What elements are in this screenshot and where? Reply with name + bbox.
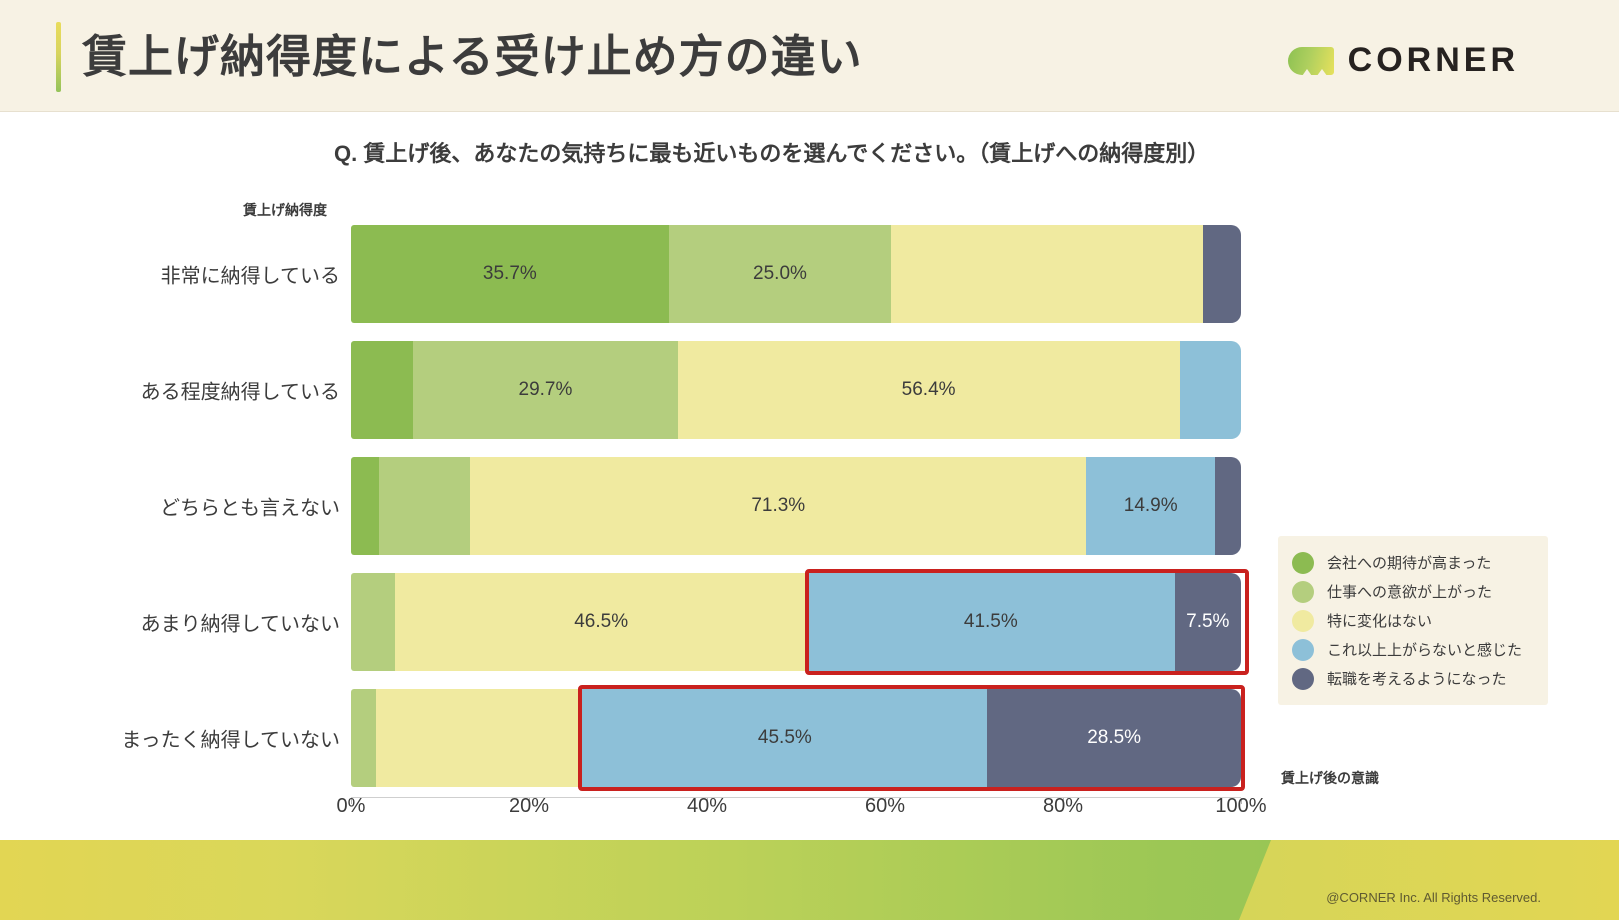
plot-area: 35.7%25.0%29.7%56.4%71.3%14.9%46.5%41.5%…	[351, 225, 1241, 797]
legend-swatch-icon	[1292, 668, 1314, 690]
bar-segment	[1180, 341, 1241, 439]
legend-swatch-icon	[1292, 581, 1314, 603]
legend-swatch-icon	[1292, 552, 1314, 574]
footer-wedge	[1239, 840, 1619, 920]
legend-item[interactable]: 特に変化はない	[1292, 606, 1538, 635]
legend-item[interactable]: これ以上上がらないと感じた	[1292, 635, 1538, 664]
x-axis-tick-label: 60%	[865, 795, 905, 818]
legend-swatch-icon	[1292, 639, 1314, 661]
bar-segment	[376, 689, 582, 787]
bar-row: 45.5%28.5%	[351, 689, 1241, 787]
bar-row: 71.3%14.9%	[351, 457, 1241, 555]
legend-item-label: 会社への期待が高まった	[1327, 552, 1491, 573]
bar-segment: 56.4%	[678, 341, 1180, 439]
bar-segment	[351, 341, 413, 439]
page-footer: @CORNER Inc. All Rights Reserved.	[0, 840, 1619, 920]
legend-axis-title: 賃上げ後の意識	[1281, 768, 1379, 788]
legend-item[interactable]: 転職を考えるようになった	[1292, 664, 1538, 693]
legend-item-label: 仕事への意欲が上がった	[1327, 581, 1492, 602]
x-axis-tick-label: 20%	[509, 795, 549, 818]
bar-segment: 71.3%	[470, 457, 1086, 555]
legend-item-label: これ以上上がらないと感じた	[1327, 639, 1522, 660]
x-axis-tick-label: 80%	[1043, 795, 1083, 818]
bar-segment	[1215, 457, 1241, 555]
x-axis-tick-label: 40%	[687, 795, 727, 818]
legend-item[interactable]: 会社への期待が高まった	[1292, 548, 1538, 577]
legend-item-label: 転職を考えるようになった	[1327, 668, 1507, 689]
bar-segment: 14.9%	[1086, 457, 1215, 555]
y-axis-label: どちらとも言えない	[160, 492, 340, 521]
y-axis-label: ある程度納得している	[141, 376, 340, 405]
y-axis-label: まったく納得していない	[121, 724, 340, 753]
bar-segment: 46.5%	[395, 573, 807, 671]
bar-segment: 7.5%	[1175, 573, 1241, 671]
y-axis-label: 非常に納得している	[161, 260, 340, 289]
legend-swatch-icon	[1292, 610, 1314, 632]
chart-legend: 会社への期待が高まった仕事への意欲が上がった特に変化はないこれ以上上がらないと感…	[1278, 536, 1548, 705]
legend-item-label: 特に変化はない	[1327, 610, 1432, 631]
bar-segment: 45.5%	[582, 689, 987, 787]
y-axis-label: あまり納得していない	[141, 608, 340, 637]
x-axis-line	[351, 797, 1241, 798]
stacked-bar-chart: 賃上げ納得度 賃上げ後の意識 35.7%25.0%29.7%56.4%71.3%…	[0, 0, 1619, 840]
copyright-text: @CORNER Inc. All Rights Reserved.	[1326, 890, 1541, 905]
bar-segment: 25.0%	[669, 225, 892, 323]
legend-item[interactable]: 仕事への意欲が上がった	[1292, 577, 1538, 606]
bar-segment	[1203, 225, 1241, 323]
bar-segment	[351, 573, 395, 671]
x-axis-tick-label: 100%	[1215, 795, 1266, 818]
bar-segment	[379, 457, 471, 555]
bar-segment	[351, 689, 376, 787]
x-axis-tick-label: 0%	[337, 795, 366, 818]
bar-segment: 28.5%	[987, 689, 1241, 787]
bar-segment: 35.7%	[351, 225, 669, 323]
bar-row: 29.7%56.4%	[351, 341, 1241, 439]
bar-segment: 29.7%	[413, 341, 677, 439]
y-axis-title: 賃上げ納得度	[243, 200, 327, 220]
bar-row: 35.7%25.0%	[351, 225, 1241, 323]
bar-segment: 41.5%	[807, 573, 1175, 671]
bar-row: 46.5%41.5%7.5%	[351, 573, 1241, 671]
bar-segment	[891, 225, 1203, 323]
bar-segment	[351, 457, 379, 555]
